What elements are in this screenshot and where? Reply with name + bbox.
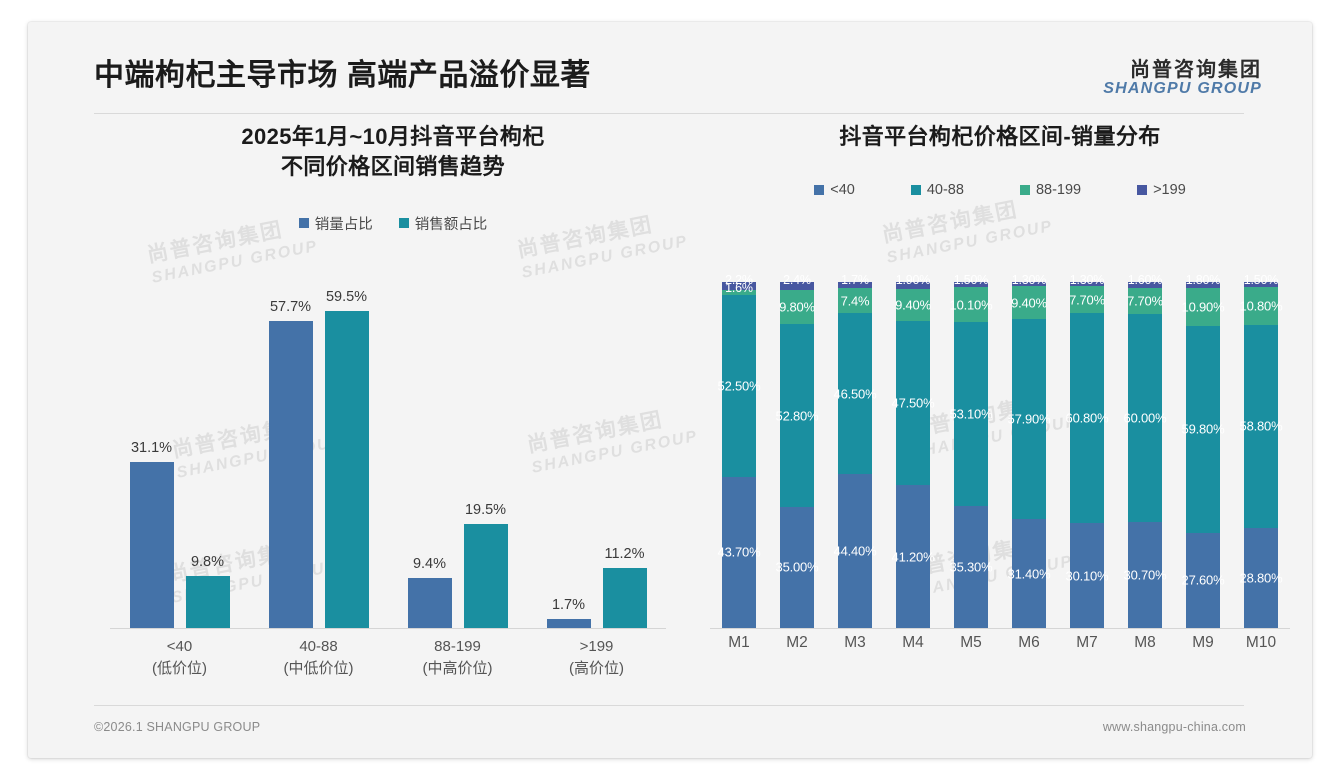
x-axis-month-label: M4 <box>884 634 942 652</box>
stack-segment-88-199[interactable]: 10.80% <box>1244 287 1278 324</box>
stacked-bar-column[interactable]: 1.50%10.80%58.80%28.80% <box>1244 282 1278 628</box>
stack-segment-88-199[interactable]: 10.10% <box>954 287 988 322</box>
bar-value-label: 59.5% <box>326 289 367 305</box>
legend-swatch-icon <box>911 185 921 195</box>
segment-value-label: 43.70% <box>718 545 761 560</box>
segment-value-label: 35.30% <box>950 559 993 574</box>
logo-english-text: SHANGPU GROUP <box>1103 81 1262 98</box>
bar-group: 31.1%9.8% <box>110 282 249 628</box>
category-tier: (中高价位) <box>388 658 527 680</box>
segment-value-label: 44.40% <box>834 544 877 559</box>
bar-value-label: 57.7% <box>270 299 311 315</box>
bar-group: 9.4%19.5% <box>388 282 527 628</box>
stack-segment-<40[interactable]: 44.40% <box>838 474 872 628</box>
bar-value-label: 9.8% <box>191 554 224 570</box>
right-chart-title: 抖音平台枸杞价格区间-销量分布 <box>700 122 1300 152</box>
legend-item-销售额占比[interactable]: 销售额占比 <box>399 213 488 234</box>
left-chart-title-line1: 2025年1月~10月抖音平台枸杞 <box>88 122 698 152</box>
legend-label: >199 <box>1153 182 1186 198</box>
bar-column[interactable]: 1.7% <box>547 282 591 628</box>
x-axis-month-label: M6 <box>1000 634 1058 652</box>
stack-segment-40-88[interactable]: 47.50% <box>896 321 930 485</box>
slide-canvas: 尚普咨询集团 SHANGPU GROUP 尚普咨询集团 SHANGPU GROU… <box>28 22 1312 758</box>
legend-swatch-icon <box>814 185 824 195</box>
bar-group: 1.7%11.2% <box>527 282 666 628</box>
category-tier: (低价位) <box>110 658 249 680</box>
bar-column[interactable]: 9.8% <box>186 282 230 628</box>
segment-value-label: 1.50% <box>1244 273 1278 287</box>
chart-panel-grouped: 2025年1月~10月抖音平台枸杞 不同价格区间销售趋势 销量占比销售额占比 3… <box>88 122 698 702</box>
stack-segment-88-199[interactable]: 10.90% <box>1186 288 1220 326</box>
brand-logo: 尚普咨询集团 SHANGPU GROUP <box>1103 60 1262 98</box>
segment-value-label: 2.4% <box>783 273 811 287</box>
stack-segment-40-88[interactable]: 52.50% <box>722 295 756 477</box>
left-chart-title: 2025年1月~10月抖音平台枸杞 不同价格区间销售趋势 <box>88 122 698 183</box>
category-tier: (高价位) <box>527 658 666 680</box>
bar-rect[interactable] <box>603 568 647 628</box>
segment-value-label: 58.80% <box>1240 419 1283 434</box>
stacked-bar-column[interactable]: 1.50%10.10%53.10%35.30% <box>954 282 988 628</box>
bar-column[interactable]: 9.4% <box>408 282 452 628</box>
legend-swatch-icon <box>399 218 409 228</box>
stack-segment-40-88[interactable]: 46.50% <box>838 313 872 474</box>
x-axis-month-label: M7 <box>1058 634 1116 652</box>
stack-segment-<40[interactable]: 35.30% <box>954 506 988 628</box>
left-chart-title-line2: 不同价格区间销售趋势 <box>88 152 698 182</box>
bar-value-label: 31.1% <box>131 440 172 456</box>
bar-value-label: 9.4% <box>413 556 446 572</box>
segment-value-label: 35.00% <box>776 560 819 575</box>
segment-value-label: 31.40% <box>1008 566 1051 581</box>
stacked-bar-column[interactable]: 1.7%7.4%46.50%44.40% <box>838 282 872 628</box>
bar-value-label: 19.5% <box>465 502 506 518</box>
x-axis-month-label: M9 <box>1174 634 1232 652</box>
legend-item-销量占比[interactable]: 销量占比 <box>299 213 373 234</box>
stack-segment-40-88[interactable]: 52.80% <box>780 324 814 507</box>
header-divider <box>94 113 1244 114</box>
segment-value-label: 1.80% <box>1186 273 1220 287</box>
segment-value-label: 9.80% <box>779 300 815 315</box>
segment-value-label: 10.90% <box>1182 300 1225 315</box>
segment-value-label: 52.80% <box>776 408 819 423</box>
grouped-bar-plot-area: 31.1%9.8%57.7%59.5%9.4%19.5%1.7%11.2% <box>110 282 666 628</box>
bar-column[interactable]: 31.1% <box>130 282 174 628</box>
segment-value-label: 1.6% <box>725 281 753 295</box>
stacked-bar-column[interactable]: 2.4%9.80%52.80%35.00% <box>780 282 814 628</box>
segment-value-label: 27.60% <box>1182 573 1225 588</box>
stacked-bar-column[interactable]: 1.60%7.70%60.00%30.70% <box>1128 282 1162 628</box>
chart-panel-stacked: 抖音平台枸杞价格区间-销量分布 <4040-8888-199>199 2.2%1… <box>700 122 1300 702</box>
segment-value-label: 1.30% <box>1012 273 1046 287</box>
bar-column[interactable]: 59.5% <box>325 282 369 628</box>
segment-value-label: 1.50% <box>954 273 988 287</box>
stacked-bar-column[interactable]: 1.30%7.70%60.80%30.10% <box>1070 282 1104 628</box>
stack-segment-<40[interactable]: 41.20% <box>896 485 930 628</box>
stack-segment-<40[interactable]: 30.70% <box>1128 522 1162 628</box>
segment-value-label: 30.10% <box>1066 568 1109 583</box>
stack-segment-40-88[interactable]: 60.00% <box>1128 314 1162 522</box>
bar-group: 57.7%59.5% <box>249 282 388 628</box>
footer-copyright: ©2026.1 SHANGPU GROUP <box>94 720 260 734</box>
stack-segment-88-199[interactable]: 9.80% <box>780 290 814 324</box>
bar-rect[interactable] <box>325 311 369 628</box>
bar-rect[interactable] <box>464 524 508 628</box>
stack-segment-<40[interactable]: 35.00% <box>780 507 814 628</box>
segment-value-label: 1.90% <box>896 273 930 287</box>
stack-segment->199[interactable]: 2.4% <box>780 282 814 290</box>
x-axis-category-label: 88-199(中高价位) <box>388 636 527 680</box>
segment-value-label: 47.50% <box>892 396 935 411</box>
stack-segment-<40[interactable]: 30.10% <box>1070 523 1104 627</box>
logo-chinese-text: 尚普咨询集团 <box>1103 60 1262 81</box>
bar-rect[interactable] <box>186 576 230 628</box>
legend-item-88-199[interactable]: 88-199 <box>1020 182 1081 198</box>
legend-label: 88-199 <box>1036 182 1081 198</box>
bar-value-label: 11.2% <box>604 546 644 562</box>
segment-value-label: 9.40% <box>1011 295 1047 310</box>
bar-rect[interactable] <box>547 619 591 628</box>
segment-value-label: 46.50% <box>834 386 877 401</box>
bar-column[interactable]: 19.5% <box>464 282 508 628</box>
legend-label: 销量占比 <box>315 213 373 234</box>
x-axis-month-label: M3 <box>826 634 884 652</box>
stacked-bar-column[interactable]: 1.80%10.90%59.80%27.60% <box>1186 282 1220 628</box>
segment-value-label: 53.10% <box>950 406 993 421</box>
footer-website: www.shangpu-china.com <box>1103 720 1246 734</box>
segment-value-label: 1.7% <box>841 273 869 287</box>
legend-swatch-icon <box>299 218 309 228</box>
segment-value-label: 28.80% <box>1240 570 1283 585</box>
segment-value-label: 57.90% <box>1008 412 1051 427</box>
stack-segment-88-199[interactable]: 7.70% <box>1070 286 1104 313</box>
stack-segment-40-88[interactable]: 60.80% <box>1070 313 1104 523</box>
stacked-bar-column[interactable]: 1.30%9.40%57.90%31.40% <box>1012 282 1046 628</box>
stack-segment-<40[interactable]: 43.70% <box>722 477 756 628</box>
legend-item-<40[interactable]: <40 <box>814 182 855 198</box>
x-axis-category-label: 40-88(中低价位) <box>249 636 388 680</box>
bar-value-label: 1.7% <box>552 597 585 613</box>
legend-label: 40-88 <box>927 182 964 198</box>
footer-divider <box>94 705 1244 706</box>
segment-value-label: 7.4% <box>841 293 870 308</box>
segment-value-label: 7.70% <box>1127 293 1163 308</box>
legend-item-40-88[interactable]: 40-88 <box>911 182 964 198</box>
segment-value-label: 10.80% <box>1240 298 1283 313</box>
bar-rect[interactable] <box>408 578 452 628</box>
legend-label: 销售额占比 <box>415 213 488 234</box>
segment-value-label: 9.40% <box>895 297 931 312</box>
segment-value-label: 60.00% <box>1124 410 1167 425</box>
right-chart-legend: <4040-8888-199>199 <box>700 182 1300 198</box>
stack-segment-40-88[interactable]: 53.10% <box>954 322 988 506</box>
category-tier: (中低价位) <box>249 658 388 680</box>
stack-segment-88-199[interactable]: 7.70% <box>1128 288 1162 315</box>
segment-value-label: 59.80% <box>1182 422 1225 437</box>
segment-value-label: 1.30% <box>1070 273 1104 287</box>
x-axis-month-label: M5 <box>942 634 1000 652</box>
category-range: <40 <box>110 636 249 658</box>
stack-segment-88-199[interactable]: 9.40% <box>896 289 930 322</box>
segment-value-label: 30.70% <box>1124 567 1167 582</box>
category-range: 40-88 <box>249 636 388 658</box>
x-axis-category-label: >199(高价位) <box>527 636 666 680</box>
category-range: >199 <box>527 636 666 658</box>
legend-item->199[interactable]: >199 <box>1137 182 1186 198</box>
stack-segment-88-199[interactable]: 9.40% <box>1012 286 1046 319</box>
stacked-bar-column[interactable]: 2.2%1.6%52.50%43.70% <box>722 282 756 628</box>
segment-value-label: 41.20% <box>892 549 935 564</box>
bar-column[interactable]: 57.7% <box>269 282 313 628</box>
stack-segment-40-88[interactable]: 57.90% <box>1012 319 1046 519</box>
stack-segment-<40[interactable]: 31.40% <box>1012 519 1046 628</box>
segment-value-label: 10.10% <box>950 297 993 312</box>
segment-value-label: 1.60% <box>1128 273 1162 287</box>
bar-rect[interactable] <box>130 462 174 628</box>
stacked-bar-plot-area: 2.2%1.6%52.50%43.70%2.4%9.80%52.80%35.00… <box>710 282 1290 628</box>
stack-segment-88-199[interactable]: 7.4% <box>838 288 872 314</box>
legend-label: <40 <box>830 182 855 198</box>
left-chart-x-axis <box>110 628 666 629</box>
segment-value-label: 52.50% <box>718 378 761 393</box>
stack-segment-<40[interactable]: 28.80% <box>1244 528 1278 628</box>
x-axis-month-label: M10 <box>1232 634 1290 652</box>
segment-value-label: 60.80% <box>1066 411 1109 426</box>
legend-swatch-icon <box>1137 185 1147 195</box>
x-axis-category-label: <40(低价位) <box>110 636 249 680</box>
page-title: 中端枸杞主导市场 高端产品溢价显著 <box>94 50 591 94</box>
category-range: 88-199 <box>388 636 527 658</box>
x-axis-month-label: M2 <box>768 634 826 652</box>
stack-segment-40-88[interactable]: 58.80% <box>1244 325 1278 528</box>
stack-segment-<40[interactable]: 27.60% <box>1186 533 1220 628</box>
bar-rect[interactable] <box>269 321 313 628</box>
legend-swatch-icon <box>1020 185 1030 195</box>
segment-value-label: 7.70% <box>1069 292 1105 307</box>
x-axis-month-label: M1 <box>710 634 768 652</box>
right-chart-x-axis <box>710 628 1290 629</box>
x-axis-month-label: M8 <box>1116 634 1174 652</box>
bar-column[interactable]: 11.2% <box>603 282 647 628</box>
left-chart-legend: 销量占比销售额占比 <box>88 213 698 234</box>
stacked-bar-column[interactable]: 1.90%9.40%47.50%41.20% <box>896 282 930 628</box>
stack-segment-40-88[interactable]: 59.80% <box>1186 326 1220 533</box>
slide-header: 中端枸杞主导市场 高端产品溢价显著 尚普咨询集团 SHANGPU GROUP <box>28 22 1312 114</box>
